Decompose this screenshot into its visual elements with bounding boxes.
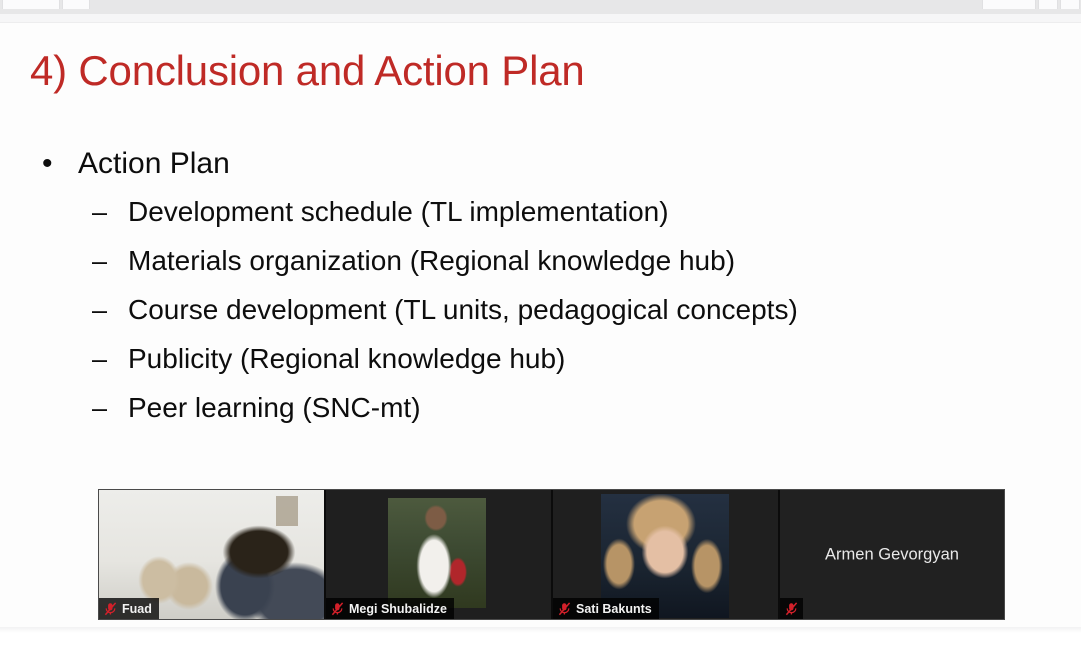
bullet-level1-action-plan: • Action Plan xyxy=(0,144,1081,184)
bullet-level1-label: Action Plan xyxy=(78,144,230,184)
dash-marker-icon: – xyxy=(92,338,128,380)
dash-marker-icon: – xyxy=(92,191,128,233)
bullet-level2-publicity: – Publicity (Regional knowledge hub) xyxy=(0,338,1081,380)
bullet-marker-icon: • xyxy=(42,144,78,184)
video-tile-sati-bakunts[interactable]: Sati Bakunts xyxy=(553,490,780,619)
browser-tab-2[interactable] xyxy=(62,0,90,9)
browser-window-button-1[interactable] xyxy=(982,0,1036,9)
microphone-muted-icon xyxy=(104,602,117,616)
video-tile-armen-gevorgyan[interactable]: Armen Gevorgyan xyxy=(780,490,1004,619)
bullet-level2-label: Materials organization (Regional knowled… xyxy=(128,240,735,282)
bullet-level2-materials-organization: – Materials organization (Regional knowl… xyxy=(0,240,1081,282)
browser-window-button-2[interactable] xyxy=(1038,0,1058,9)
chrome-divider xyxy=(0,14,1081,23)
microphone-muted-icon xyxy=(331,602,344,616)
slide-title: 4) Conclusion and Action Plan xyxy=(30,49,585,93)
bullet-level2-development-schedule: – Development schedule (TL implementatio… xyxy=(0,191,1081,233)
video-tile-fuad[interactable]: Fuad xyxy=(99,490,326,619)
participant-name-badge: Sati Bakunts xyxy=(553,598,659,619)
browser-tab-1[interactable] xyxy=(2,0,60,9)
dash-marker-icon: – xyxy=(92,240,128,282)
bullet-level2-label: Development schedule (TL implementation) xyxy=(128,191,669,233)
participant-name-badge: Megi Shubalidze xyxy=(326,598,454,619)
browser-chrome-strip xyxy=(0,0,1081,14)
browser-window-button-3[interactable] xyxy=(1060,0,1080,9)
dash-marker-icon: – xyxy=(92,289,128,331)
bullet-level2-peer-learning: – Peer learning (SNC-mt) xyxy=(0,387,1081,429)
slide-bottom-edge xyxy=(0,627,1081,633)
participant-name: Armen Gevorgyan xyxy=(780,545,1004,564)
participant-name: Fuad xyxy=(122,602,152,616)
bullet-level2-course-development: – Course development (TL units, pedagogi… xyxy=(0,289,1081,331)
bullet-level2-label: Course development (TL units, pedagogica… xyxy=(128,289,798,331)
participant-name: Megi Shubalidze xyxy=(349,602,447,616)
microphone-muted-icon xyxy=(785,602,798,616)
dash-marker-icon: – xyxy=(92,387,128,429)
participant-name-badge: Fuad xyxy=(99,598,159,619)
microphone-muted-icon xyxy=(558,602,571,616)
slide-bullet-list: • Action Plan – Development schedule (TL… xyxy=(0,144,1081,429)
zoom-video-filmstrip[interactable]: Fuad Megi Shubalidze Sati Bakunts xyxy=(98,489,1005,620)
bullet-level2-label: Publicity (Regional knowledge hub) xyxy=(128,338,565,380)
participant-name: Sati Bakunts xyxy=(576,602,652,616)
video-tile-megi-shubalidze[interactable]: Megi Shubalidze xyxy=(326,490,553,619)
video-feed xyxy=(388,498,486,608)
bullet-level2-label: Peer learning (SNC-mt) xyxy=(128,387,421,429)
participant-name-badge xyxy=(780,598,803,619)
